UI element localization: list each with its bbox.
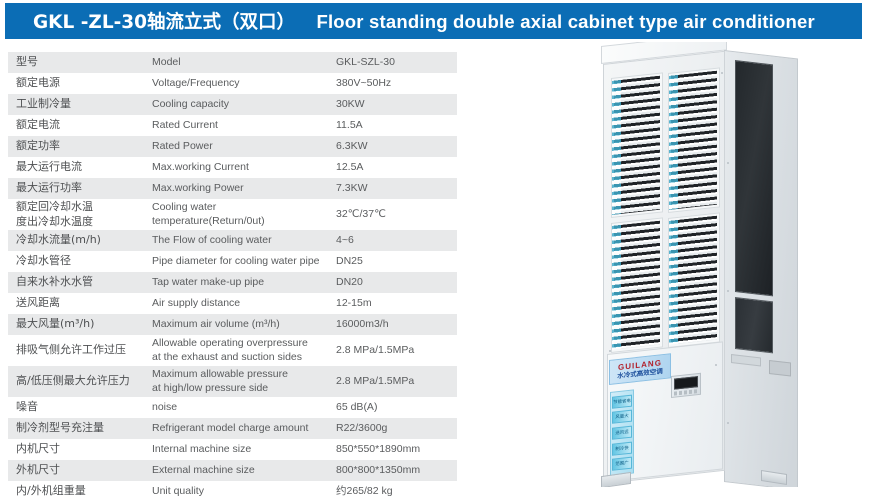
spec-label-en: Voltage/Frequency xyxy=(150,73,334,94)
spec-value: 11.5A xyxy=(334,115,457,136)
spec-label-cn: 制冷剂型号充注量 xyxy=(8,418,150,439)
spec-label-en: External machine size xyxy=(150,460,334,481)
spec-label-cn: 排吸气侧允许工作过压 xyxy=(8,335,150,366)
table-row: 额定回冷却水温 度出冷却水温度 Cooling water temperatur… xyxy=(8,199,457,230)
screw-dot xyxy=(715,364,717,366)
spec-value: 30KW xyxy=(334,94,457,115)
louver-grille-bottom-right xyxy=(668,212,720,348)
spec-value: 约265/82 kg xyxy=(334,481,457,502)
spec-value: 6.3KW xyxy=(334,136,457,157)
table-row: 型号 Model GKL-SZL-30 xyxy=(8,52,457,73)
screw-dot xyxy=(727,422,729,424)
spec-value: 800*800*1350mm xyxy=(334,460,457,481)
spec-label-en: Allowable operating overpressure at the … xyxy=(150,335,334,366)
table-row: 内/外机组重量 Unit quality 约265/82 kg xyxy=(8,481,457,502)
table-row: 排吸气侧允许工作过压 Allowable operating overpress… xyxy=(8,335,457,366)
screw-dot xyxy=(727,290,729,292)
spec-label-cn: 最大运行功率 xyxy=(8,178,150,199)
control-panel xyxy=(671,373,701,398)
table-row: 冷却水管径 Pipe diameter for cooling water pi… xyxy=(8,251,457,272)
screw-dot xyxy=(721,72,723,74)
spec-label-cn: 型号 xyxy=(8,52,150,73)
spec-label-cn: 自来水补水水管 xyxy=(8,272,150,293)
table-row: 冷却水流量(m/h) The Flow of cooling water 4~6 xyxy=(8,230,457,251)
spec-value: 850*550*1890mm xyxy=(334,439,457,460)
spec-value: DN25 xyxy=(334,251,457,272)
table-row: 额定电流 Rated Current 11.5A xyxy=(8,115,457,136)
page-title: GKL -ZL-30轴流立式（双口） Floor standing double… xyxy=(33,8,815,34)
spec-label-en: Max.working Power xyxy=(150,178,334,199)
table-row: 制冷剂型号充注量 Refrigerant model charge amount… xyxy=(8,418,457,439)
spec-value: 4~6 xyxy=(334,230,457,251)
page-title-english: Floor standing double axial cabinet type… xyxy=(316,11,814,32)
spec-label-en: Rated Current xyxy=(150,115,334,136)
table-row: 最大运行电流 Max.working Current 12.5A xyxy=(8,157,457,178)
spec-label-cn: 最大运行电流 xyxy=(8,157,150,178)
table-row: 最大运行功率 Max.working Power 7.3KW xyxy=(8,178,457,199)
feature-chip: 范围广 xyxy=(612,457,632,471)
spec-label-en: Rated Power xyxy=(150,136,334,157)
spec-label-en-line1: Allowable operating overpressure xyxy=(152,337,334,351)
spec-label-en: Tap water make-up pipe xyxy=(150,272,334,293)
spec-label-en: Model xyxy=(150,52,334,73)
cabinet-side-nameplate xyxy=(769,360,791,377)
table-row: 自来水补水水管 Tap water make-up pipe DN20 xyxy=(8,272,457,293)
spec-value: R22/3600g xyxy=(334,418,457,439)
specification-table-body: 型号 Model GKL-SZL-30 额定电源 Voltage/Frequen… xyxy=(8,52,457,502)
feature-chip: 制冷快 xyxy=(612,441,632,455)
screw-dot xyxy=(727,162,729,164)
screw-dot xyxy=(609,350,611,352)
louver-grille-bottom-left xyxy=(611,217,663,353)
spec-label-en: Refrigerant model charge amount xyxy=(150,418,334,439)
spec-value: 2.8 MPa/1.5MPa xyxy=(334,335,457,366)
spec-label-cn: 外机尺寸 xyxy=(8,460,150,481)
cabinet-side-dark-vent xyxy=(735,60,773,296)
spec-label-cn: 额定功率 xyxy=(8,136,150,157)
spec-value: 32℃/37℃ xyxy=(334,199,457,230)
spec-label-cn: 额定电流 xyxy=(8,115,150,136)
spec-label-cn: 内/外机组重量 xyxy=(8,481,150,502)
spec-value: 16000m3/h xyxy=(334,314,457,335)
table-row: 噪音 noise 65 dB(A) xyxy=(8,397,457,418)
spec-label-cn: 高/低压侧最大允许压力 xyxy=(8,366,150,397)
spec-label-en: Internal machine size xyxy=(150,439,334,460)
header-banner: GKL -ZL-30轴流立式（双口） Floor standing double… xyxy=(5,3,862,39)
spec-label-cn: 最大风量(m³/h) xyxy=(8,314,150,335)
spec-label-en: Unit quality xyxy=(150,481,334,502)
table-row: 额定电源 Voltage/Frequency 380V~50Hz xyxy=(8,73,457,94)
spec-label-en-line1: Cooling water xyxy=(152,201,334,215)
spec-label-en-line2: temperature(Return/0ut) xyxy=(152,215,334,229)
spec-label-en: Maximum air volume (m³/h) xyxy=(150,314,334,335)
table-row: 高/低压侧最大允许压力 Maximum allowable pressure a… xyxy=(8,366,457,397)
louver-grille-top-left xyxy=(611,72,663,218)
spec-label-en: Air supply distance xyxy=(150,293,334,314)
feature-sticker: 节能省电 风量大 送风远 制冷快 范围广 xyxy=(610,389,634,476)
spec-label-cn: 工业制冷量 xyxy=(8,94,150,115)
louver-tint-strip xyxy=(612,225,621,350)
table-row: 额定功率 Rated Power 6.3KW xyxy=(8,136,457,157)
table-row: 送风距离 Air supply distance 12-15m xyxy=(8,293,457,314)
spec-label-en: Cooling water temperature(Return/0ut) xyxy=(150,199,334,230)
table-row: 最大风量(m³/h) Maximum air volume (m³/h) 160… xyxy=(8,314,457,335)
spec-label-cn-line2: 度出冷却水温度 xyxy=(16,215,150,230)
spec-label-cn: 额定回冷却水温 度出冷却水温度 xyxy=(8,199,150,230)
spec-label-en-line1: Maximum allowable pressure xyxy=(152,368,334,382)
spec-label-en: noise xyxy=(150,397,334,418)
spec-label-cn: 冷却水管径 xyxy=(8,251,150,272)
spec-label-en: The Flow of cooling water xyxy=(150,230,334,251)
louver-tint-strip xyxy=(612,80,621,215)
table-row: 外机尺寸 External machine size 800*800*1350m… xyxy=(8,460,457,481)
spec-value: DN20 xyxy=(334,272,457,293)
spec-label-cn: 内机尺寸 xyxy=(8,439,150,460)
spec-value: 65 dB(A) xyxy=(334,397,457,418)
spec-value: 2.8 MPa/1.5MPa xyxy=(334,366,457,397)
product-photo: GUILANG 水冷式高效空调 节能省电 风量大 送风远 制冷快 范围广 xyxy=(575,42,875,487)
spec-value: GKL-SZL-30 xyxy=(334,52,457,73)
spec-label-cn-line1: 额定回冷却水温 xyxy=(16,200,150,215)
spec-label-cn: 送风距离 xyxy=(8,293,150,314)
spec-label-cn: 冷却水流量(m/h) xyxy=(8,230,150,251)
feature-chip: 送风远 xyxy=(612,426,632,440)
page-title-model-cn: GKL -ZL-30轴流立式（双口） xyxy=(33,12,295,33)
control-panel-buttons xyxy=(674,389,698,396)
spec-label-en: Pipe diameter for cooling water pipe xyxy=(150,251,334,272)
louver-tint-strip xyxy=(669,220,678,345)
feature-chip: 风量大 xyxy=(612,410,632,424)
spec-value: 12.5A xyxy=(334,157,457,178)
table-row: 内机尺寸 Internal machine size 850*550*1890m… xyxy=(8,439,457,460)
specification-table: 型号 Model GKL-SZL-30 额定电源 Voltage/Frequen… xyxy=(8,52,457,502)
louver-tint-strip xyxy=(669,75,678,210)
spec-value: 7.3KW xyxy=(334,178,457,199)
spec-label-en: Maximum allowable pressure at high/low p… xyxy=(150,366,334,397)
spec-value: 380V~50Hz xyxy=(334,73,457,94)
louver-grille-top-right xyxy=(668,67,720,213)
spec-value: 12-15m xyxy=(334,293,457,314)
spec-label-cn: 噪音 xyxy=(8,397,150,418)
spec-label-en-line2: at the exhaust and suction sides xyxy=(152,351,334,365)
spec-label-en: Max.working Current xyxy=(150,157,334,178)
table-row: 工业制冷量 Cooling capacity 30KW xyxy=(8,94,457,115)
cabinet-side-lower-vent xyxy=(735,297,773,353)
control-panel-display xyxy=(674,376,698,390)
spec-label-en-line2: at high/low pressure side xyxy=(152,382,334,396)
feature-chip: 节能省电 xyxy=(612,394,632,408)
spec-label-cn: 额定电源 xyxy=(8,73,150,94)
spec-label-en: Cooling capacity xyxy=(150,94,334,115)
